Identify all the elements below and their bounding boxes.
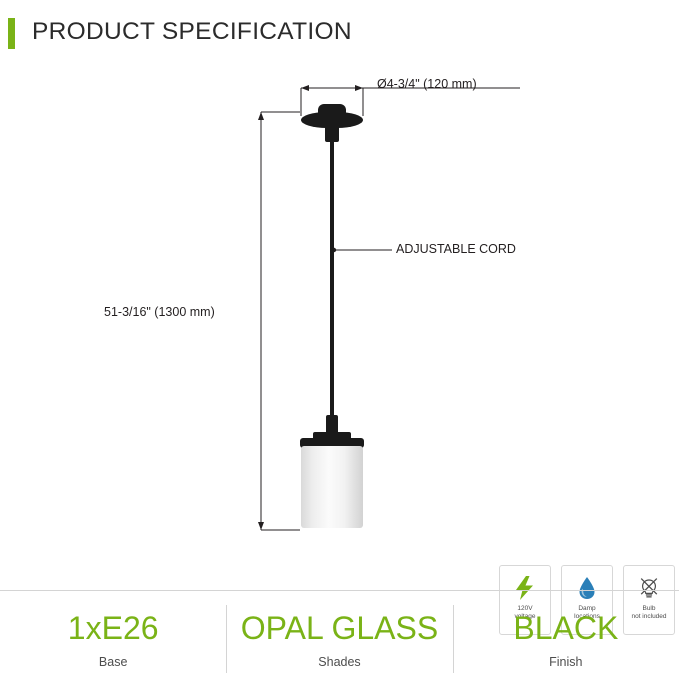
base-label: Base xyxy=(99,655,128,669)
footer-column-shades: OPAL GLASS Shades xyxy=(226,591,452,687)
finish-label: Finish xyxy=(549,655,582,669)
footer-column-finish: BLACK Finish xyxy=(453,591,679,687)
spec-footer: 1xE26 Base OPAL GLASS Shades BLACK Finis… xyxy=(0,590,679,687)
shades-label: Shades xyxy=(318,655,360,669)
diameter-dimension-label: Ø4-3/4" (120 mm) xyxy=(377,77,477,91)
height-dimension-label: 51-3/16" (1300 mm) xyxy=(104,305,215,319)
product-diagram: Ø4-3/4" (120 mm) 51-3/16" (1300 mm) ADJU… xyxy=(0,60,679,585)
page-header: PRODUCT SPECIFICATION xyxy=(0,8,679,56)
canopy-top-icon xyxy=(318,104,346,118)
finish-value: BLACK xyxy=(513,609,618,647)
shades-value: OPAL GLASS xyxy=(241,609,438,647)
adjustable-cord-label: ADJUSTABLE CORD xyxy=(396,242,516,256)
header-accent-bar xyxy=(8,18,15,49)
adjustable-cord xyxy=(330,142,334,430)
page-title: PRODUCT SPECIFICATION xyxy=(32,18,352,46)
footer-column-base: 1xE26 Base xyxy=(0,591,226,687)
cord-grip-icon xyxy=(325,126,339,142)
base-value: 1xE26 xyxy=(68,609,159,647)
opal-glass-shade xyxy=(301,446,363,528)
